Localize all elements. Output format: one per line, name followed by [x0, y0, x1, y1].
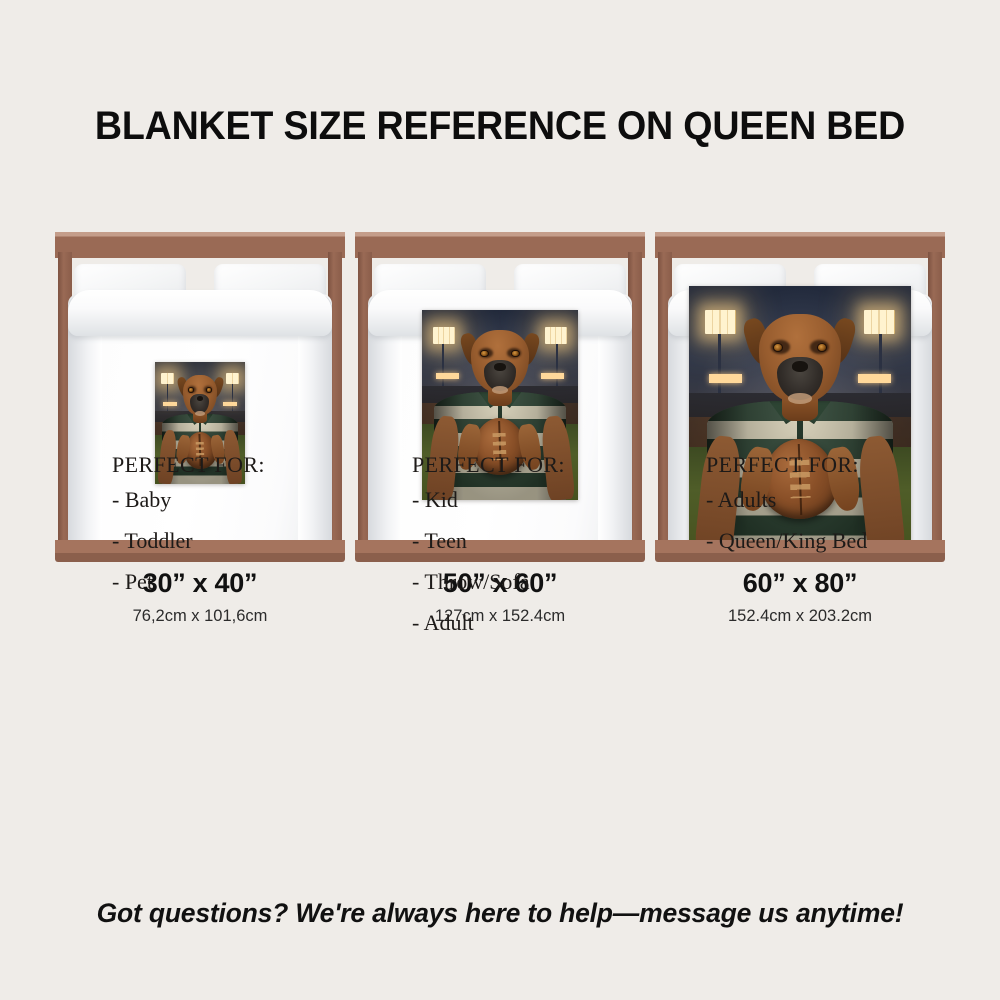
stadium-lights-right — [541, 373, 564, 379]
floodlight-left-icon — [161, 373, 174, 384]
dog-nose — [792, 361, 809, 372]
dog-chin — [195, 411, 205, 416]
list-item: - Kid — [412, 489, 662, 511]
floodlight-left-icon — [433, 327, 455, 344]
list-item: - Teen — [412, 530, 662, 552]
size-label-cm: 152.4cm x 203.2cm — [650, 607, 950, 626]
floodlight-pole-left — [442, 344, 444, 386]
perfect-for-heading: PERFECT FOR: — [706, 452, 956, 478]
floodlight-right-icon — [545, 327, 567, 344]
floodlight-pole-right — [879, 334, 882, 393]
list-item: - Baby — [112, 489, 362, 511]
floodlight-pole-right — [556, 344, 558, 386]
dog-chin — [492, 386, 508, 394]
stadium-lights-left — [709, 374, 742, 383]
perfect-for-list-50x60: PERFECT FOR: - Kid - Teen - Throw/Sofa -… — [412, 452, 662, 653]
floodlight-pole-left — [718, 334, 721, 393]
list-item: - Toddler — [112, 530, 362, 552]
dog-eye-left — [189, 388, 193, 391]
perfect-for-heading: PERFECT FOR: — [412, 452, 662, 478]
dog-eye-right — [207, 388, 211, 391]
list-item: - Queen/King Bed — [706, 530, 956, 552]
floodlight-left-icon — [705, 310, 736, 334]
duvet-fold — [68, 290, 332, 336]
dog-eye-left — [481, 351, 487, 356]
floodlight-right-icon — [864, 310, 895, 334]
dog-eye-right — [512, 351, 518, 356]
stadium-lights-right — [223, 402, 237, 406]
stadium-lights-right — [858, 374, 891, 383]
list-item: - Adult — [412, 612, 662, 634]
perfect-for-list-30x40: PERFECT FOR: - Baby - Toddler - Pet — [112, 452, 362, 612]
footer-tagline: Got questions? We're always here to help… — [0, 898, 1000, 929]
boxer-dog-head — [751, 307, 849, 414]
dog-nose — [494, 363, 506, 371]
boxer-dog-head — [466, 325, 535, 401]
infographic-page: BLANKET SIZE REFERENCE ON QUEEN BED — [0, 0, 1000, 1000]
list-item: - Throw/Sofa — [412, 571, 662, 593]
dog-chin — [788, 393, 811, 404]
floodlight-pole-left — [167, 384, 168, 411]
stadium-lights-left — [163, 402, 177, 406]
list-item: - Pet — [112, 571, 362, 593]
perfect-for-list-60x80: PERFECT FOR: - Adults - Queen/King Bed — [706, 452, 956, 571]
floodlight-pole-right — [232, 384, 233, 411]
size-label-inches: 60” x 80” — [650, 568, 950, 599]
floodlight-right-icon — [226, 373, 239, 384]
boxer-dog-head — [180, 372, 220, 421]
perfect-for-heading: PERFECT FOR: — [112, 452, 362, 478]
stadium-lights-left — [436, 373, 459, 379]
list-item: - Adults — [706, 489, 956, 511]
page-title: BLANKET SIZE REFERENCE ON QUEEN BED — [30, 104, 970, 149]
